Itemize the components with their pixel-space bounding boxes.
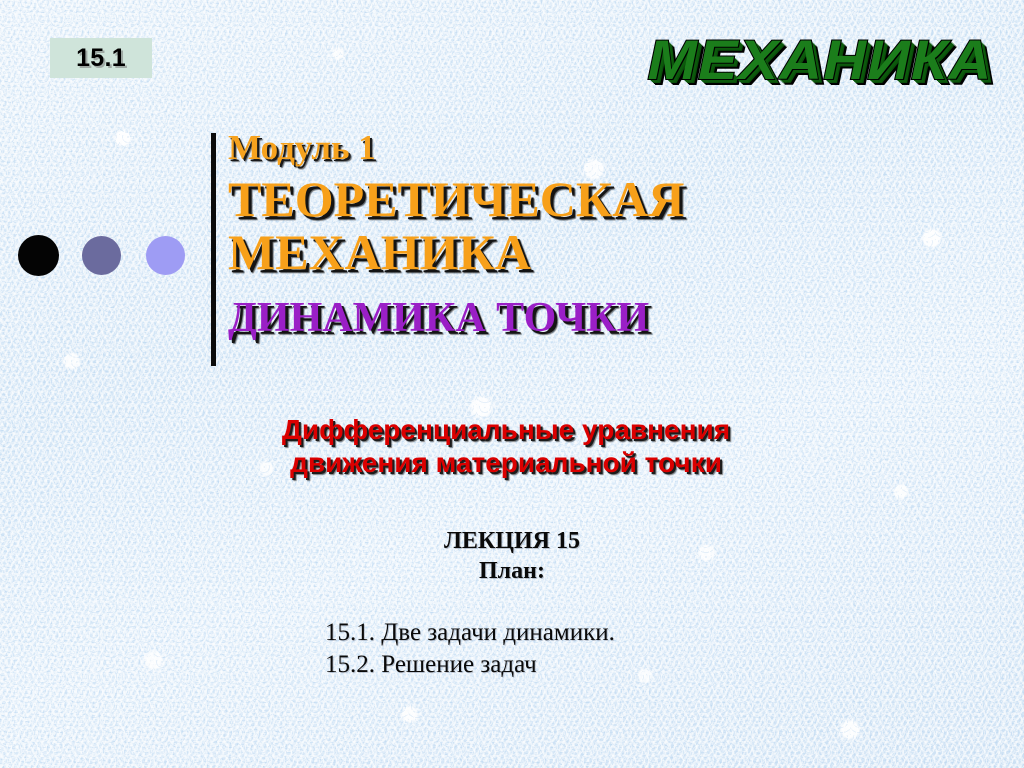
- title-block: Модуль 1 ТЕОРЕТИЧЕСКАЯ МЕХАНИКА ДИНАМИКА…: [228, 128, 988, 341]
- lecture-heading: ЛЕКЦИЯ 15 План:: [0, 526, 1024, 586]
- plan-label: План:: [0, 556, 1024, 586]
- discipline-title-line-2: МЕХАНИКА: [228, 226, 988, 279]
- decorative-dot-periwinkle: [146, 236, 185, 275]
- discipline-title-line-1: ТЕОРЕТИЧЕСКАЯ: [228, 173, 988, 226]
- lecture-subtitle: Дифференциальные уравнения движения мате…: [0, 413, 1024, 479]
- decorative-dot-slate: [82, 236, 121, 275]
- plan-item: 15.1. Две задачи динамики.: [325, 617, 615, 649]
- module-label: Модуль 1: [228, 128, 988, 168]
- lecture-subtitle-line-1: Дифференциальные уравнения: [0, 413, 1012, 446]
- title-vertical-rule: [211, 133, 216, 366]
- section-title: ДИНАМИКА ТОЧКИ: [228, 295, 988, 341]
- lecture-number: ЛЕКЦИЯ 15: [0, 526, 1024, 556]
- decorative-dot-black: [18, 235, 59, 276]
- lecture-subtitle-line-2: движения материальной точки: [0, 446, 1012, 479]
- plan-item: 15.2. Решение задач: [325, 649, 615, 681]
- presentation-slide: 15.1 МЕХАНИКА Модуль 1 ТЕОРЕТИЧЕСКАЯ МЕХ…: [0, 0, 1024, 768]
- course-header-title: МЕХАНИКА: [647, 31, 992, 89]
- discipline-title: ТЕОРЕТИЧЕСКАЯ МЕХАНИКА: [228, 173, 988, 279]
- plan-list: 15.1. Две задачи динамики. 15.2. Решение…: [325, 617, 615, 681]
- slide-number-badge: 15.1: [50, 38, 152, 78]
